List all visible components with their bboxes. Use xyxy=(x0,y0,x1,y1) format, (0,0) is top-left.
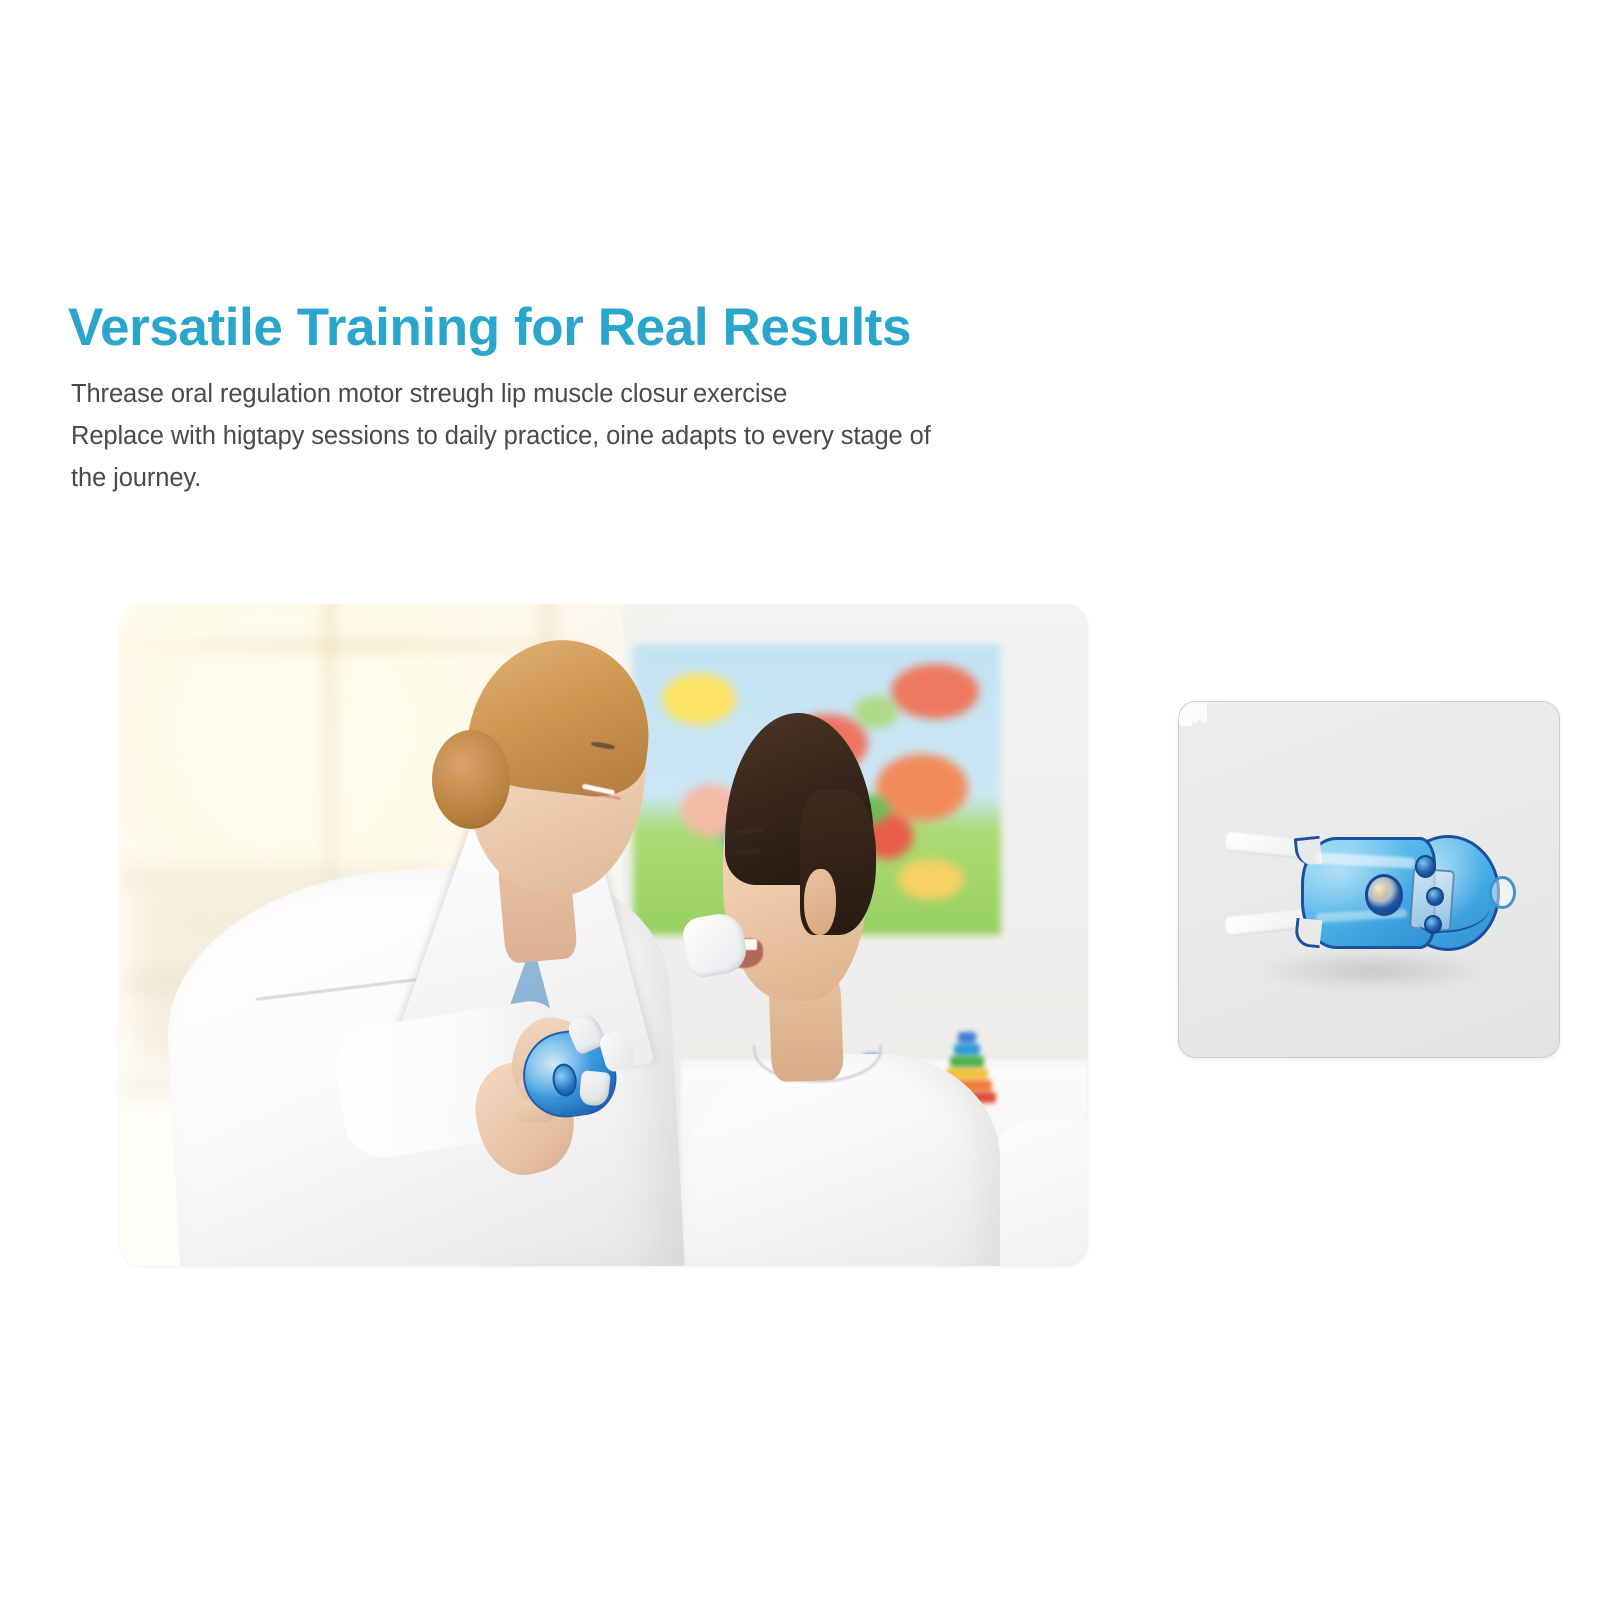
child-white-shirt xyxy=(685,1054,1000,1266)
product-loop-tab xyxy=(1489,876,1516,909)
page-root: Versatile Training for Real Results Thre… xyxy=(0,0,1600,1600)
body-line-1-part-b: exercise xyxy=(693,380,787,408)
product-strap-hook-bottom xyxy=(1193,701,1207,726)
child-ear xyxy=(804,869,836,935)
body-line-1: Threase oral regulation motor streugh li… xyxy=(71,373,1101,415)
product-strap-hook-top xyxy=(1179,701,1193,726)
main-photo xyxy=(120,604,1088,1266)
product-thumbnail-card[interactable] xyxy=(1178,701,1560,1058)
body-line-1-part-a: Threase oral regulation motor streugh li… xyxy=(71,380,688,408)
clinician-figure xyxy=(159,604,759,1266)
body-line-2: Replace with higtapy sessions to daily p… xyxy=(71,415,1101,457)
product-drop-shadow xyxy=(1259,951,1487,990)
product-image xyxy=(1179,702,1559,1057)
product-side-knob-3 xyxy=(1424,915,1442,934)
product-side-knob-1 xyxy=(1415,855,1436,878)
child-figure xyxy=(672,604,1088,1266)
oral-trainer-device-in-hand xyxy=(515,1007,649,1129)
body-copy: Threase oral regulation motor streugh li… xyxy=(71,373,1101,499)
clinician-hair-bun xyxy=(432,730,510,829)
page-title: Versatile Training for Real Results xyxy=(68,298,911,357)
product-side-knob-2 xyxy=(1426,887,1444,906)
body-line-3: the journey. xyxy=(71,457,1101,499)
clinic-room-background xyxy=(120,604,1088,1266)
